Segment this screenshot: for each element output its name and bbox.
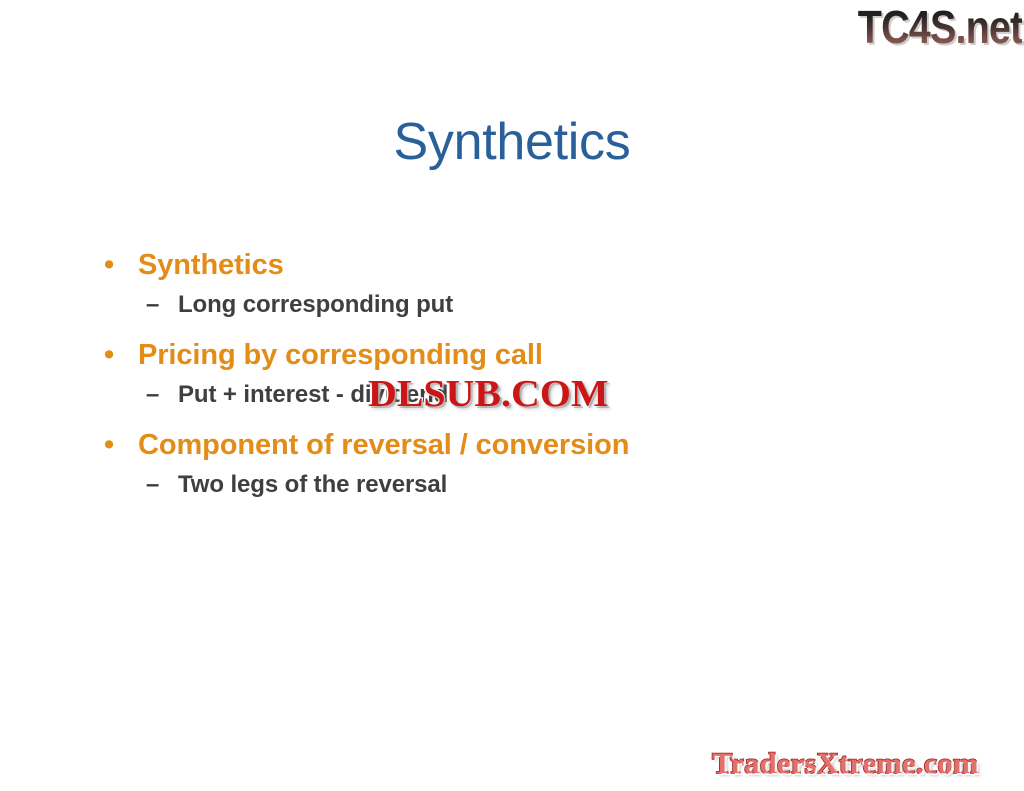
footer-logo-tradersxtreme: TradersXtreme.com [712,746,979,782]
bullet-level1: • Pricing by corresponding call [96,336,926,374]
bullet-level2-label: Two legs of the reversal [178,471,447,498]
bullet-level1-label: Component of reversal / conversion [138,429,629,461]
bullet-dot-icon: • [104,336,114,374]
header-logo-tc4s: TC4S.net [857,2,1022,52]
bullet-dot-icon: • [104,426,114,464]
bullet-level1: • Component of reversal / conversion [96,426,926,464]
bullet-level1-label: Pricing by corresponding call [138,339,543,371]
bullet-group: • Synthetics – Long corresponding put [96,246,926,322]
bullet-level2-label: Long corresponding put [178,291,453,318]
bullet-dash-icon: – [146,378,159,412]
slide-title: Synthetics [0,112,1024,172]
bullet-dash-icon: – [146,288,159,322]
bullet-level2: – Two legs of the reversal [96,468,926,502]
bullet-level1: • Synthetics [96,246,926,284]
bullet-dot-icon: • [104,246,114,284]
bullet-level1-label: Synthetics [138,249,284,281]
presentation-slide: TC4S.net TC4S.net Synthetics • Synthetic… [0,0,1024,791]
bullet-group: • Component of reversal / conversion – T… [96,426,926,502]
bullet-level2: – Long corresponding put [96,288,926,322]
dlsub-watermark: DLSUB.COM [368,374,609,414]
bullet-dash-icon: – [146,468,159,502]
